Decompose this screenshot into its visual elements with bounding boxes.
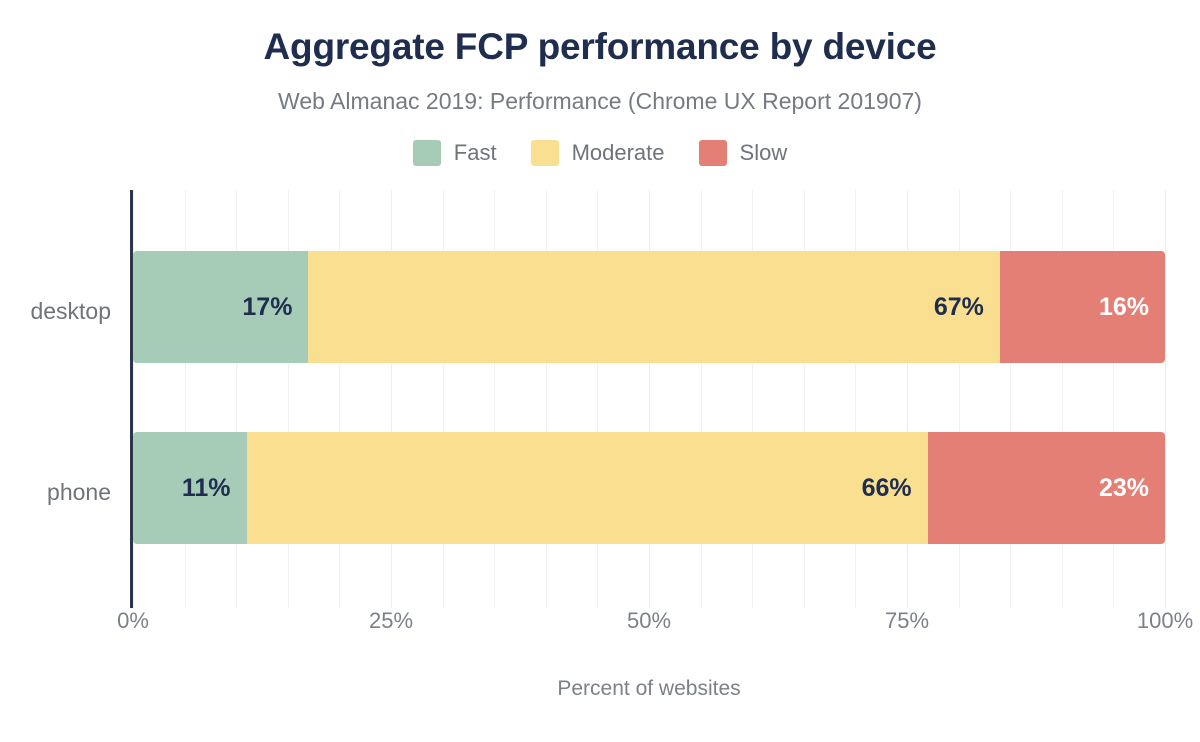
legend-item-moderate[interactable]: Moderate	[531, 140, 665, 166]
bar-segment-slow-phone[interactable]: 23%	[928, 432, 1165, 544]
x-tick-label: 25%	[311, 610, 471, 632]
legend-item-slow[interactable]: Slow	[699, 140, 788, 166]
bar-segment-moderate-desktop[interactable]: 67%	[308, 251, 999, 363]
bar-value-label: 66%	[862, 476, 912, 501]
x-tick-label: 100%	[1085, 610, 1200, 632]
chart-title: Aggregate FCP performance by device	[0, 26, 1200, 69]
bar-segment-slow-desktop[interactable]: 16%	[1000, 251, 1165, 363]
bar-value-label: 16%	[1099, 295, 1149, 320]
legend-swatch-moderate	[531, 140, 559, 166]
bar-segment-moderate-phone[interactable]: 66%	[247, 432, 928, 544]
bar-segment-fast-phone[interactable]: 11%	[133, 432, 247, 544]
bar-row-phone[interactable]: 11%66%23%	[133, 432, 1165, 544]
category-label-phone: phone	[0, 481, 111, 504]
legend-label-slow: Slow	[740, 142, 788, 164]
x-axis-title: Percent of websites	[133, 678, 1165, 699]
bar-value-label: 17%	[242, 295, 292, 320]
chart-legend: Fast Moderate Slow	[0, 140, 1200, 166]
x-tick-label: 0%	[53, 610, 213, 632]
x-tick-label: 75%	[827, 610, 987, 632]
category-label-desktop: desktop	[0, 300, 111, 323]
legend-item-fast[interactable]: Fast	[413, 140, 497, 166]
gridline	[1165, 190, 1166, 608]
bar-value-label: 23%	[1099, 476, 1149, 501]
bar-value-label: 67%	[934, 295, 984, 320]
bar-track-phone: 11%66%23%	[133, 432, 1165, 544]
legend-label-fast: Fast	[454, 142, 497, 164]
bar-track-desktop: 17%67%16%	[133, 251, 1165, 363]
plot-area: 17%67%16% 11%66%23%	[133, 190, 1165, 608]
bar-row-desktop[interactable]: 17%67%16%	[133, 251, 1165, 363]
chart-container: Aggregate FCP performance by device Web …	[0, 0, 1200, 742]
bar-segment-fast-desktop[interactable]: 17%	[133, 251, 308, 363]
legend-swatch-fast	[413, 140, 441, 166]
legend-swatch-slow	[699, 140, 727, 166]
bar-value-label: 11%	[182, 476, 231, 501]
x-tick-label: 50%	[569, 610, 729, 632]
legend-label-moderate: Moderate	[572, 142, 665, 164]
chart-subtitle: Web Almanac 2019: Performance (Chrome UX…	[0, 88, 1200, 116]
